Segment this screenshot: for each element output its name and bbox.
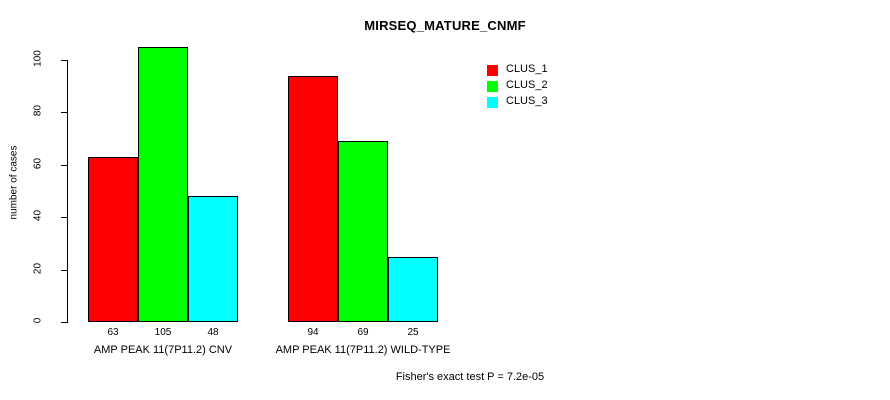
bar (288, 76, 338, 322)
bar-count-label: 48 (183, 327, 243, 338)
bar (338, 141, 388, 322)
statistical-test-annotation: Fisher's exact test P = 7.2e-05 (280, 371, 660, 383)
bar-count-label: 25 (383, 327, 443, 338)
legend-color-swatch-icon (487, 65, 498, 76)
bar (388, 257, 438, 323)
plot-area: 6310548AMP PEAK 11(7P11.2) CNV946925AMP … (0, 0, 890, 400)
x-axis-group-label: AMP PEAK 11(7P11.2) WILD-TYPE (213, 344, 513, 356)
legend-color-swatch-icon (487, 97, 498, 108)
bar (88, 157, 138, 322)
barplot-figure: MIRSEQ_MATURE_CNMF number of cases 02040… (0, 0, 890, 400)
bar (138, 47, 188, 322)
bar (188, 196, 238, 322)
legend-item-label: CLUS_1 (506, 63, 548, 75)
legend-item-label: CLUS_2 (506, 79, 548, 91)
legend-color-swatch-icon (487, 81, 498, 92)
legend-item-label: CLUS_3 (506, 95, 548, 107)
